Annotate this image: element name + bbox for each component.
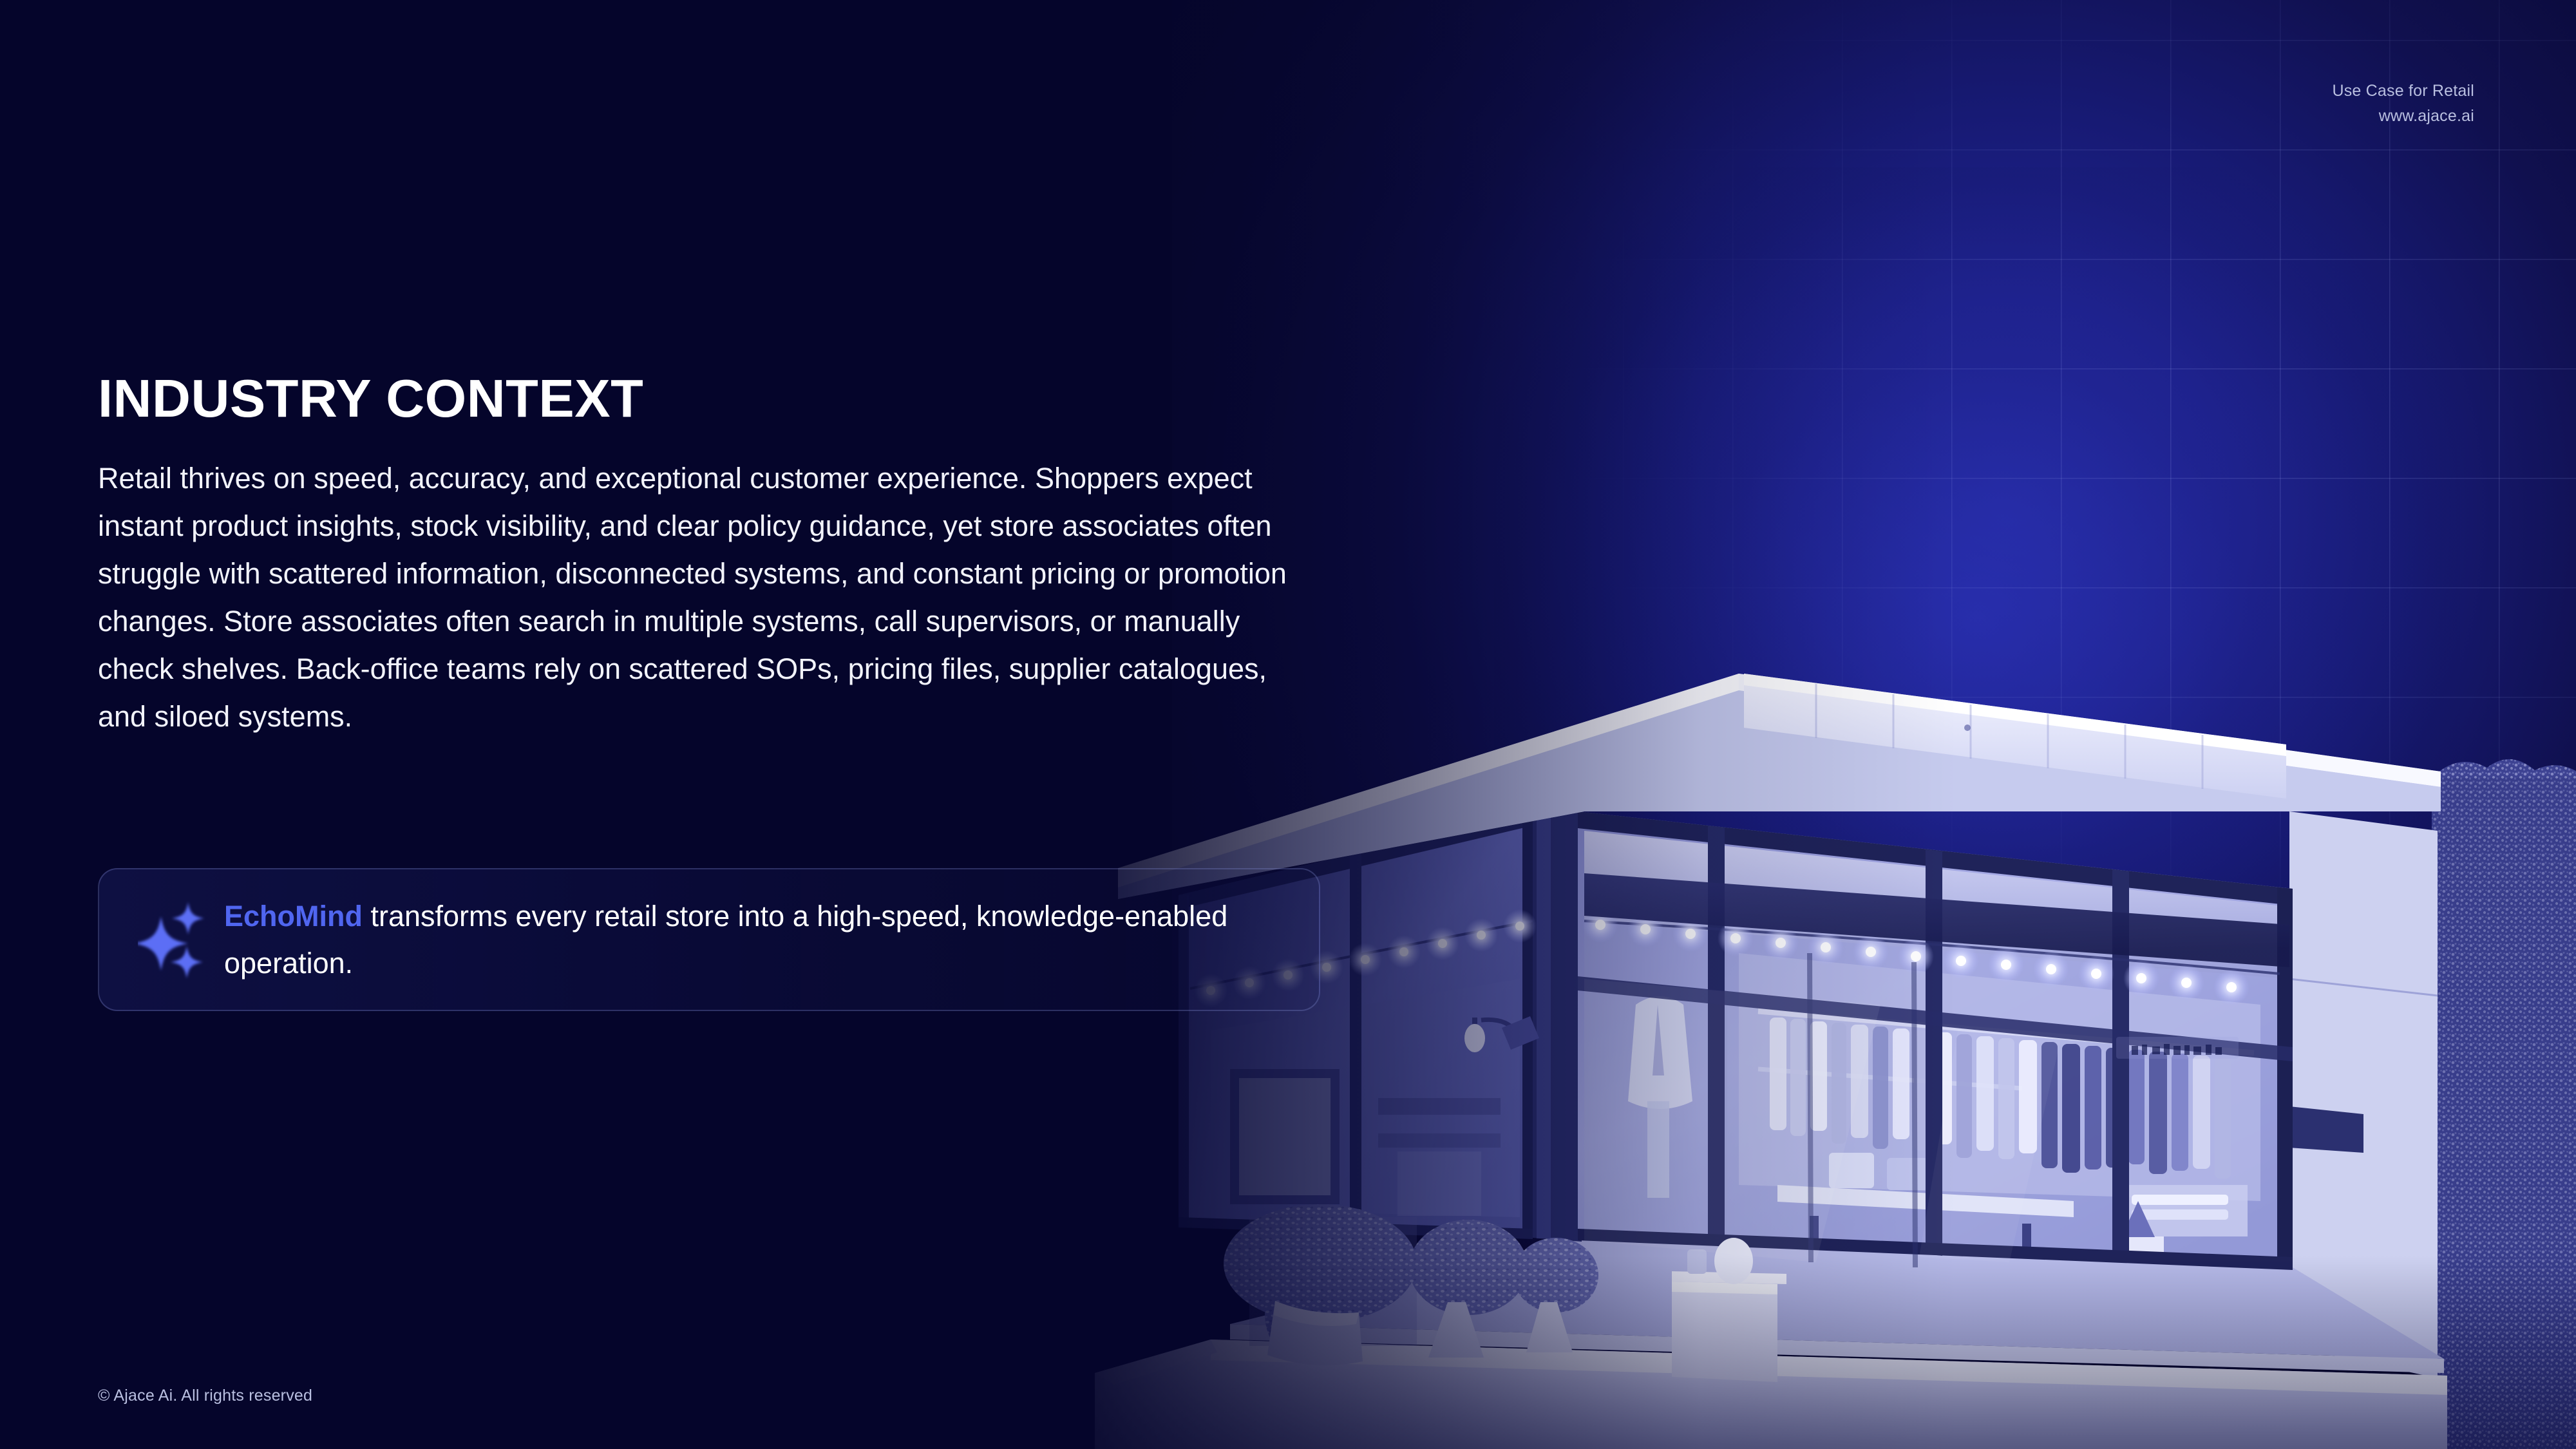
main-content: INDUSTRY CONTEXT Retail thrives on speed…: [98, 370, 1334, 741]
footer-copyright: © Ajace Ai. All rights reserved: [98, 1387, 312, 1405]
storefront-awning: [1584, 873, 2289, 967]
bottom-fade-overlay: [0, 1256, 2576, 1449]
header-meta: Use Case for Retail www.ajace.ai: [2332, 79, 2474, 129]
storefront-wall-lamp: [1464, 1016, 1539, 1052]
header-eyebrow: Use Case for Retail: [2332, 79, 2474, 104]
storefront-display-pedestal: [1672, 1238, 1786, 1382]
background-glow-right: [1172, 0, 2576, 1352]
storefront-string-lights: [1190, 907, 2280, 1007]
storefront-corner-pillar: [1533, 809, 1582, 1242]
sparkles-icon: [138, 898, 213, 981]
storefront-planters: [1224, 1204, 1598, 1365]
storefront-entry-floor: [1230, 1236, 2444, 1359]
page-title: INDUSTRY CONTEXT: [98, 370, 1334, 426]
storefront-side-wall: [2289, 811, 2438, 1378]
body-paragraph: Retail thrives on speed, accuracy, and e…: [98, 455, 1309, 741]
callout-body: transforms every retail store into a hig…: [224, 900, 1227, 980]
background-glow-soft: [1494, 167, 2460, 1069]
retail-storefront-illustration: [1018, 618, 2576, 1449]
callout-text: EchoMind transforms every retail store i…: [224, 893, 1319, 987]
storefront-right-bay: [1578, 811, 2293, 1270]
storefront-sidewalk: [1095, 1340, 2447, 1449]
side-wall-awning: [2289, 1106, 2363, 1153]
slide-root: Use Case for Retail www.ajace.ai INDUSTR…: [0, 0, 2576, 1449]
header-website[interactable]: www.ajace.ai: [2332, 104, 2474, 129]
brand-name: EchoMind: [224, 900, 363, 933]
storefront-hedge: [2432, 759, 2576, 1449]
background-grid-pattern: [1301, 0, 2576, 966]
echomind-callout: EchoMind transforms every retail store i…: [98, 868, 1320, 1011]
storefront-entry-doors: [1810, 953, 1915, 1267]
storefront-sign: [2116, 1037, 2239, 1059]
